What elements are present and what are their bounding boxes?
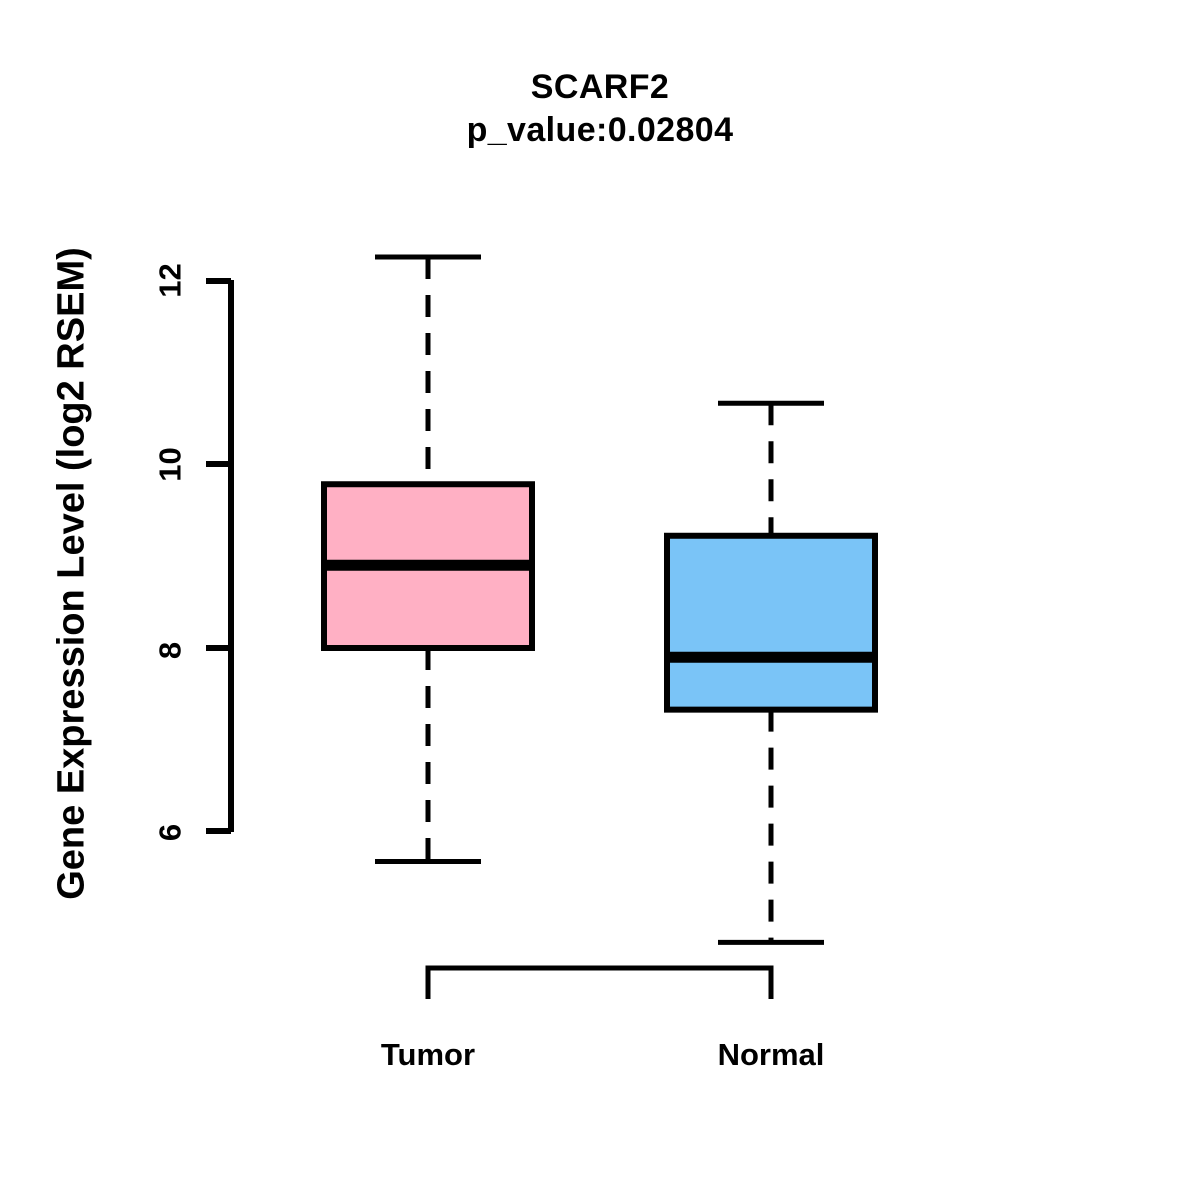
plot-canvas [0, 0, 1200, 1200]
box-group-tumor[interactable] [322, 257, 534, 861]
box-group-normal[interactable] [665, 403, 877, 942]
box-normal[interactable] [667, 536, 875, 710]
significance-bracket [428, 968, 771, 999]
boxplot-figure: SCARF2 p_value:0.02804 Gene Expression L… [0, 0, 1200, 1200]
y-axis [206, 280, 231, 832]
